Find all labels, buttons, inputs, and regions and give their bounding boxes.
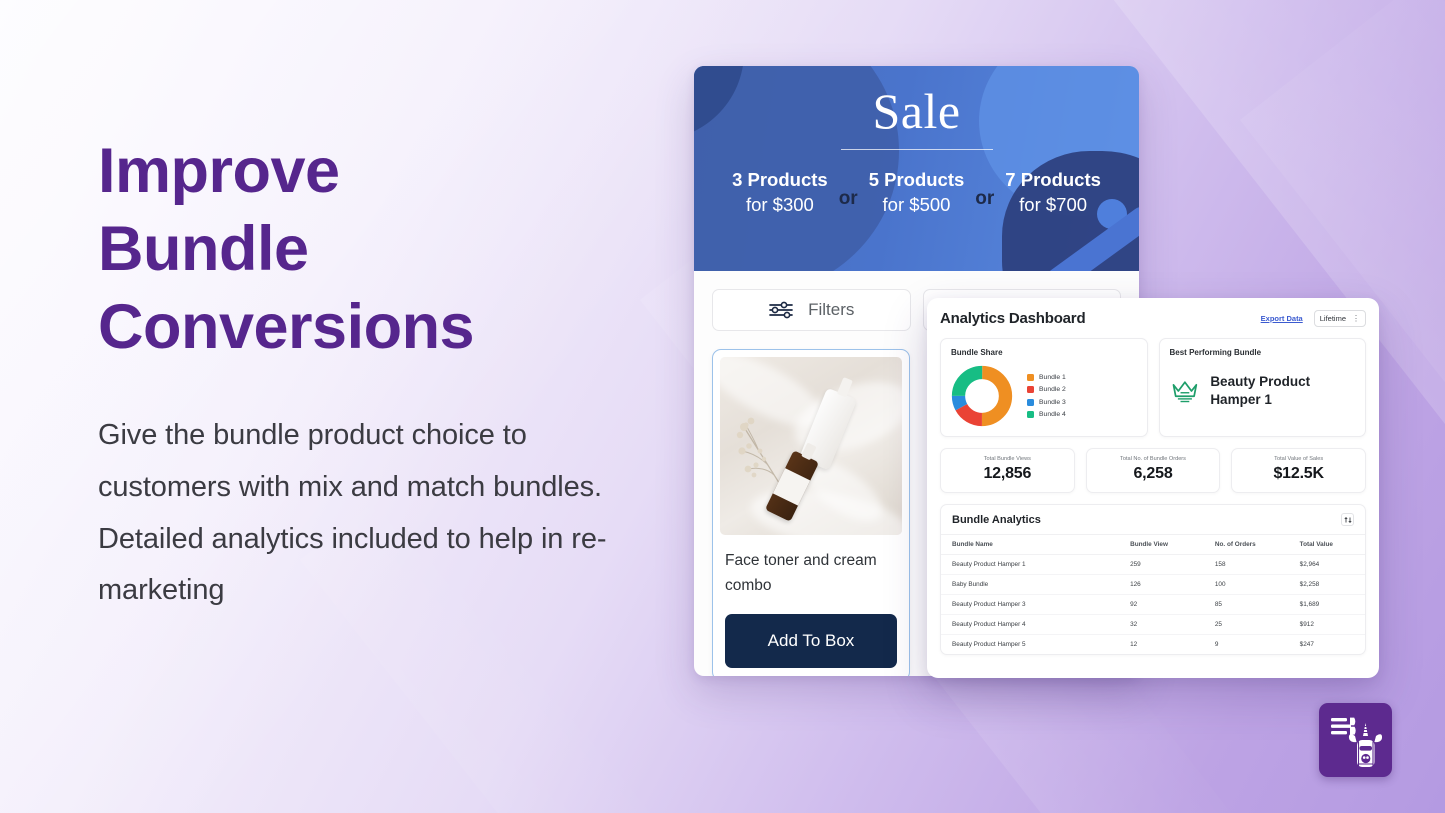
offer-amount: 7 Products — [1005, 168, 1101, 193]
legend-item: Bundle 2 — [1027, 386, 1066, 393]
sort-icon — [1344, 516, 1352, 524]
table-row[interactable]: Beauty Product Hamper 1259158$2,964 — [941, 555, 1365, 575]
app-logo — [1319, 703, 1392, 777]
filters-label: Filters — [808, 300, 854, 320]
table-cell: 158 — [1204, 555, 1289, 575]
bundle-analytics-table: Bundle Name Bundle View No. of Orders To… — [941, 535, 1365, 654]
stat-label: Total Bundle Views — [947, 456, 1068, 462]
legend-swatch — [1027, 411, 1034, 418]
crown-icon — [1170, 376, 1200, 406]
promo-banner-canvas: Improve Bundle Conversions Give the bund… — [0, 0, 1445, 813]
period-select-value: Lifetime — [1320, 314, 1346, 323]
bundle-share-title: Bundle Share — [951, 348, 1137, 357]
table-cell: Beauty Product Hamper 3 — [941, 595, 1119, 615]
table-row[interactable]: Beauty Product Hamper 43225$912 — [941, 615, 1365, 635]
stat-value: $12.5K — [1238, 465, 1359, 483]
table-cell: 92 — [1119, 595, 1204, 615]
best-bundle-name: Beauty Product Hamper 1 — [1210, 373, 1355, 408]
best-bundle-body: Beauty Product Hamper 1 — [1170, 363, 1356, 408]
table-cell: 126 — [1119, 575, 1204, 595]
product-card[interactable]: Face toner and cream combo Add To Box — [712, 349, 910, 676]
product-title: Face toner and cream combo — [720, 548, 902, 598]
table-cell: 9 — [1204, 635, 1289, 655]
offer-price: for $300 — [732, 193, 828, 218]
table-cell: Beauty Product Hamper 4 — [941, 615, 1119, 635]
table-cell: 100 — [1204, 575, 1289, 595]
product-image — [720, 357, 902, 535]
table-header-row: Bundle Name Bundle View No. of Orders To… — [941, 535, 1365, 555]
offer-amount: 3 Products — [732, 168, 828, 193]
table-header-bar: Bundle Analytics — [941, 505, 1365, 535]
stat-card-total-sales: Total Value of Sales $12.5K — [1231, 448, 1366, 493]
bundle-share-body: Bundle 1Bundle 2Bundle 3Bundle 4 — [951, 363, 1137, 427]
headline-line-2: Bundle — [98, 210, 638, 288]
chart-legend: Bundle 1Bundle 2Bundle 3Bundle 4 — [1027, 374, 1066, 419]
offer-amount: 5 Products — [869, 168, 965, 193]
sale-offers-row: 3 Products for $300 or 5 Products for $5… — [694, 168, 1139, 218]
stat-value: 12,856 — [947, 465, 1068, 483]
table-cell: $2,964 — [1289, 555, 1365, 575]
legend-swatch — [1027, 386, 1034, 393]
best-bundle-title: Best Performing Bundle — [1170, 348, 1356, 357]
table-cell: $247 — [1289, 635, 1365, 655]
column-header-bundle-name[interactable]: Bundle Name — [941, 535, 1119, 555]
headline-line-1: Improve — [98, 132, 638, 210]
sliders-icon — [768, 301, 794, 319]
stat-label: Total Value of Sales — [1238, 456, 1359, 462]
sale-banner: Sale 3 Products for $300 or 5 Products f… — [694, 66, 1139, 271]
offer-price: for $500 — [869, 193, 965, 218]
legend-item: Bundle 3 — [1027, 399, 1066, 406]
legend-swatch — [1027, 399, 1034, 406]
table-cell: Baby Bundle — [941, 575, 1119, 595]
filters-button[interactable]: Filters — [712, 289, 911, 331]
stat-cards-row: Total Bundle Views 12,856 Total No. of B… — [940, 448, 1366, 493]
bundle-share-panel: Bundle Share Bundle 1Bundle 2Bundle 3Bun… — [940, 338, 1148, 437]
dashboard-header: Analytics Dashboard Export Data Lifetime… — [940, 310, 1366, 327]
dashboard-header-actions: Export Data Lifetime ⋮ — [1261, 310, 1366, 327]
hero-copy: Improve Bundle Conversions Give the bund… — [98, 132, 638, 617]
table-row[interactable]: Baby Bundle126100$2,258 — [941, 575, 1365, 595]
table-cell: 25 — [1204, 615, 1289, 635]
add-to-box-button[interactable]: Add To Box — [725, 614, 897, 668]
stat-label: Total No. of Bundle Orders — [1093, 456, 1214, 462]
sale-title: Sale — [694, 66, 1139, 140]
table-cell: Beauty Product Hamper 1 — [941, 555, 1119, 575]
legend-item: Bundle 4 — [1027, 411, 1066, 418]
table-row[interactable]: Beauty Product Hamper 5129$247 — [941, 635, 1365, 655]
headline-line-3: Conversions — [98, 288, 638, 366]
offer-tier-3: 7 Products for $700 — [1005, 168, 1101, 218]
chevron-down-icon: ⋮ — [1352, 315, 1360, 323]
offer-price: for $700 — [1005, 193, 1101, 218]
offer-tier-2: 5 Products for $500 — [869, 168, 965, 218]
period-select[interactable]: Lifetime ⋮ — [1314, 310, 1366, 327]
table-cell: Beauty Product Hamper 5 — [941, 635, 1119, 655]
sale-divider — [841, 149, 993, 150]
dashboard-title: Analytics Dashboard — [940, 310, 1085, 327]
offer-separator: or — [975, 176, 994, 210]
legend-label: Bundle 4 — [1039, 411, 1066, 418]
table-cell: 259 — [1119, 555, 1204, 575]
column-header-total-value[interactable]: Total Value — [1289, 535, 1365, 555]
column-header-orders[interactable]: No. of Orders — [1204, 535, 1289, 555]
best-performing-bundle-panel: Best Performing Bundle Beauty Product Ha… — [1159, 338, 1367, 437]
table-cell: 85 — [1204, 595, 1289, 615]
stat-value: 6,258 — [1093, 465, 1214, 483]
page-title: Improve Bundle Conversions — [98, 132, 638, 366]
table-cell: 12 — [1119, 635, 1204, 655]
table-cell: $1,689 — [1289, 595, 1365, 615]
dashboard-top-panels: Bundle Share Bundle 1Bundle 2Bundle 3Bun… — [940, 338, 1366, 437]
table-cell: 32 — [1119, 615, 1204, 635]
legend-label: Bundle 1 — [1039, 374, 1066, 381]
legend-label: Bundle 3 — [1039, 399, 1066, 406]
stat-card-bundle-views: Total Bundle Views 12,856 — [940, 448, 1075, 493]
hero-subcopy: Give the bundle product choice to custom… — [98, 410, 638, 616]
llama-mascot-icon — [1319, 703, 1392, 777]
bundle-analytics-table-card: Bundle Analytics Bundle Name Bundle View… — [940, 504, 1366, 655]
table-cell: $912 — [1289, 615, 1365, 635]
legend-label: Bundle 2 — [1039, 386, 1066, 393]
table-row[interactable]: Beauty Product Hamper 39285$1,689 — [941, 595, 1365, 615]
sort-button[interactable] — [1341, 513, 1354, 526]
table-title: Bundle Analytics — [952, 514, 1041, 526]
legend-item: Bundle 1 — [1027, 374, 1066, 381]
offer-separator: or — [839, 176, 858, 210]
analytics-dashboard-card: Analytics Dashboard Export Data Lifetime… — [927, 298, 1379, 678]
table-cell: $2,258 — [1289, 575, 1365, 595]
column-header-bundle-view[interactable]: Bundle View — [1119, 535, 1204, 555]
export-data-link[interactable]: Export Data — [1261, 314, 1303, 323]
donut-chart — [951, 365, 1013, 427]
legend-swatch — [1027, 374, 1034, 381]
stat-card-bundle-orders: Total No. of Bundle Orders 6,258 — [1086, 448, 1221, 493]
offer-tier-1: 3 Products for $300 — [732, 168, 828, 218]
